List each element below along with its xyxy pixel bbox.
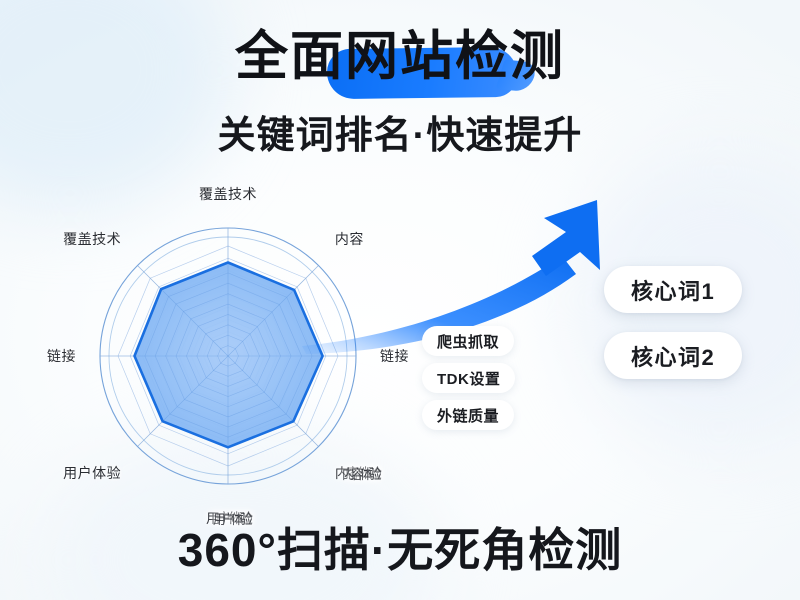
footline-container: 360°扫描·无死角检测 (0, 526, 800, 574)
radar-label-content: 内容 (335, 229, 364, 249)
pill-crawl-label: 爬虫抓取 (437, 331, 499, 352)
headline-container: 全面网站检测 (0, 30, 800, 83)
pill-tdk[interactable]: TDK设置 (422, 363, 515, 393)
radar-label-tech-top: 覆盖技术 (199, 184, 257, 204)
pill-links-label: 外链质量 (437, 405, 499, 426)
pill-keyword-1[interactable]: 核心词1 (604, 266, 742, 313)
page-subtitle: 关键词排名·快速提升 (218, 117, 583, 157)
title-segment-highlight: 网站 (345, 27, 455, 86)
pill-links[interactable]: 外链质量 (422, 400, 514, 430)
radar-label-glitch-br-overlay: 内容体验 (342, 464, 378, 483)
pill-crawl[interactable]: 爬虫抓取 (422, 326, 514, 356)
poster-canvas: 全面网站检测 关键词排名·快速提升 覆盖技术内容链接内容体验内容体验用户体验用户… (0, 0, 800, 600)
radar-label-glitch-br: 内容体验内容体验 (335, 463, 379, 482)
radar-chart: 覆盖技术内容链接内容体验内容体验用户体验用户体验用户体验链接覆盖技术 (38, 196, 418, 516)
radar-label-tech-left: 覆盖技术 (63, 229, 121, 249)
radar-label-link-right: 链接 (380, 346, 409, 366)
page-title: 全面网站检测 (235, 30, 565, 83)
radar-geometry (100, 228, 356, 484)
radar-label-link-left: 链接 (47, 346, 76, 366)
pill-keyword-1-label: 核心词1 (631, 274, 715, 306)
pill-keyword-2-label: 核心词2 (631, 340, 715, 372)
subheadline-container: 关键词排名·快速提升 (0, 117, 800, 157)
page-footline: 360°扫描·无死角检测 (178, 526, 622, 574)
title-segment-after: 检测 (455, 27, 565, 86)
pill-tdk-label: TDK设置 (437, 368, 500, 389)
pill-keyword-2[interactable]: 核心词2 (604, 332, 742, 379)
title-segment-before: 全面 (235, 27, 345, 86)
radar-label-ux: 用户体验 (63, 463, 121, 483)
